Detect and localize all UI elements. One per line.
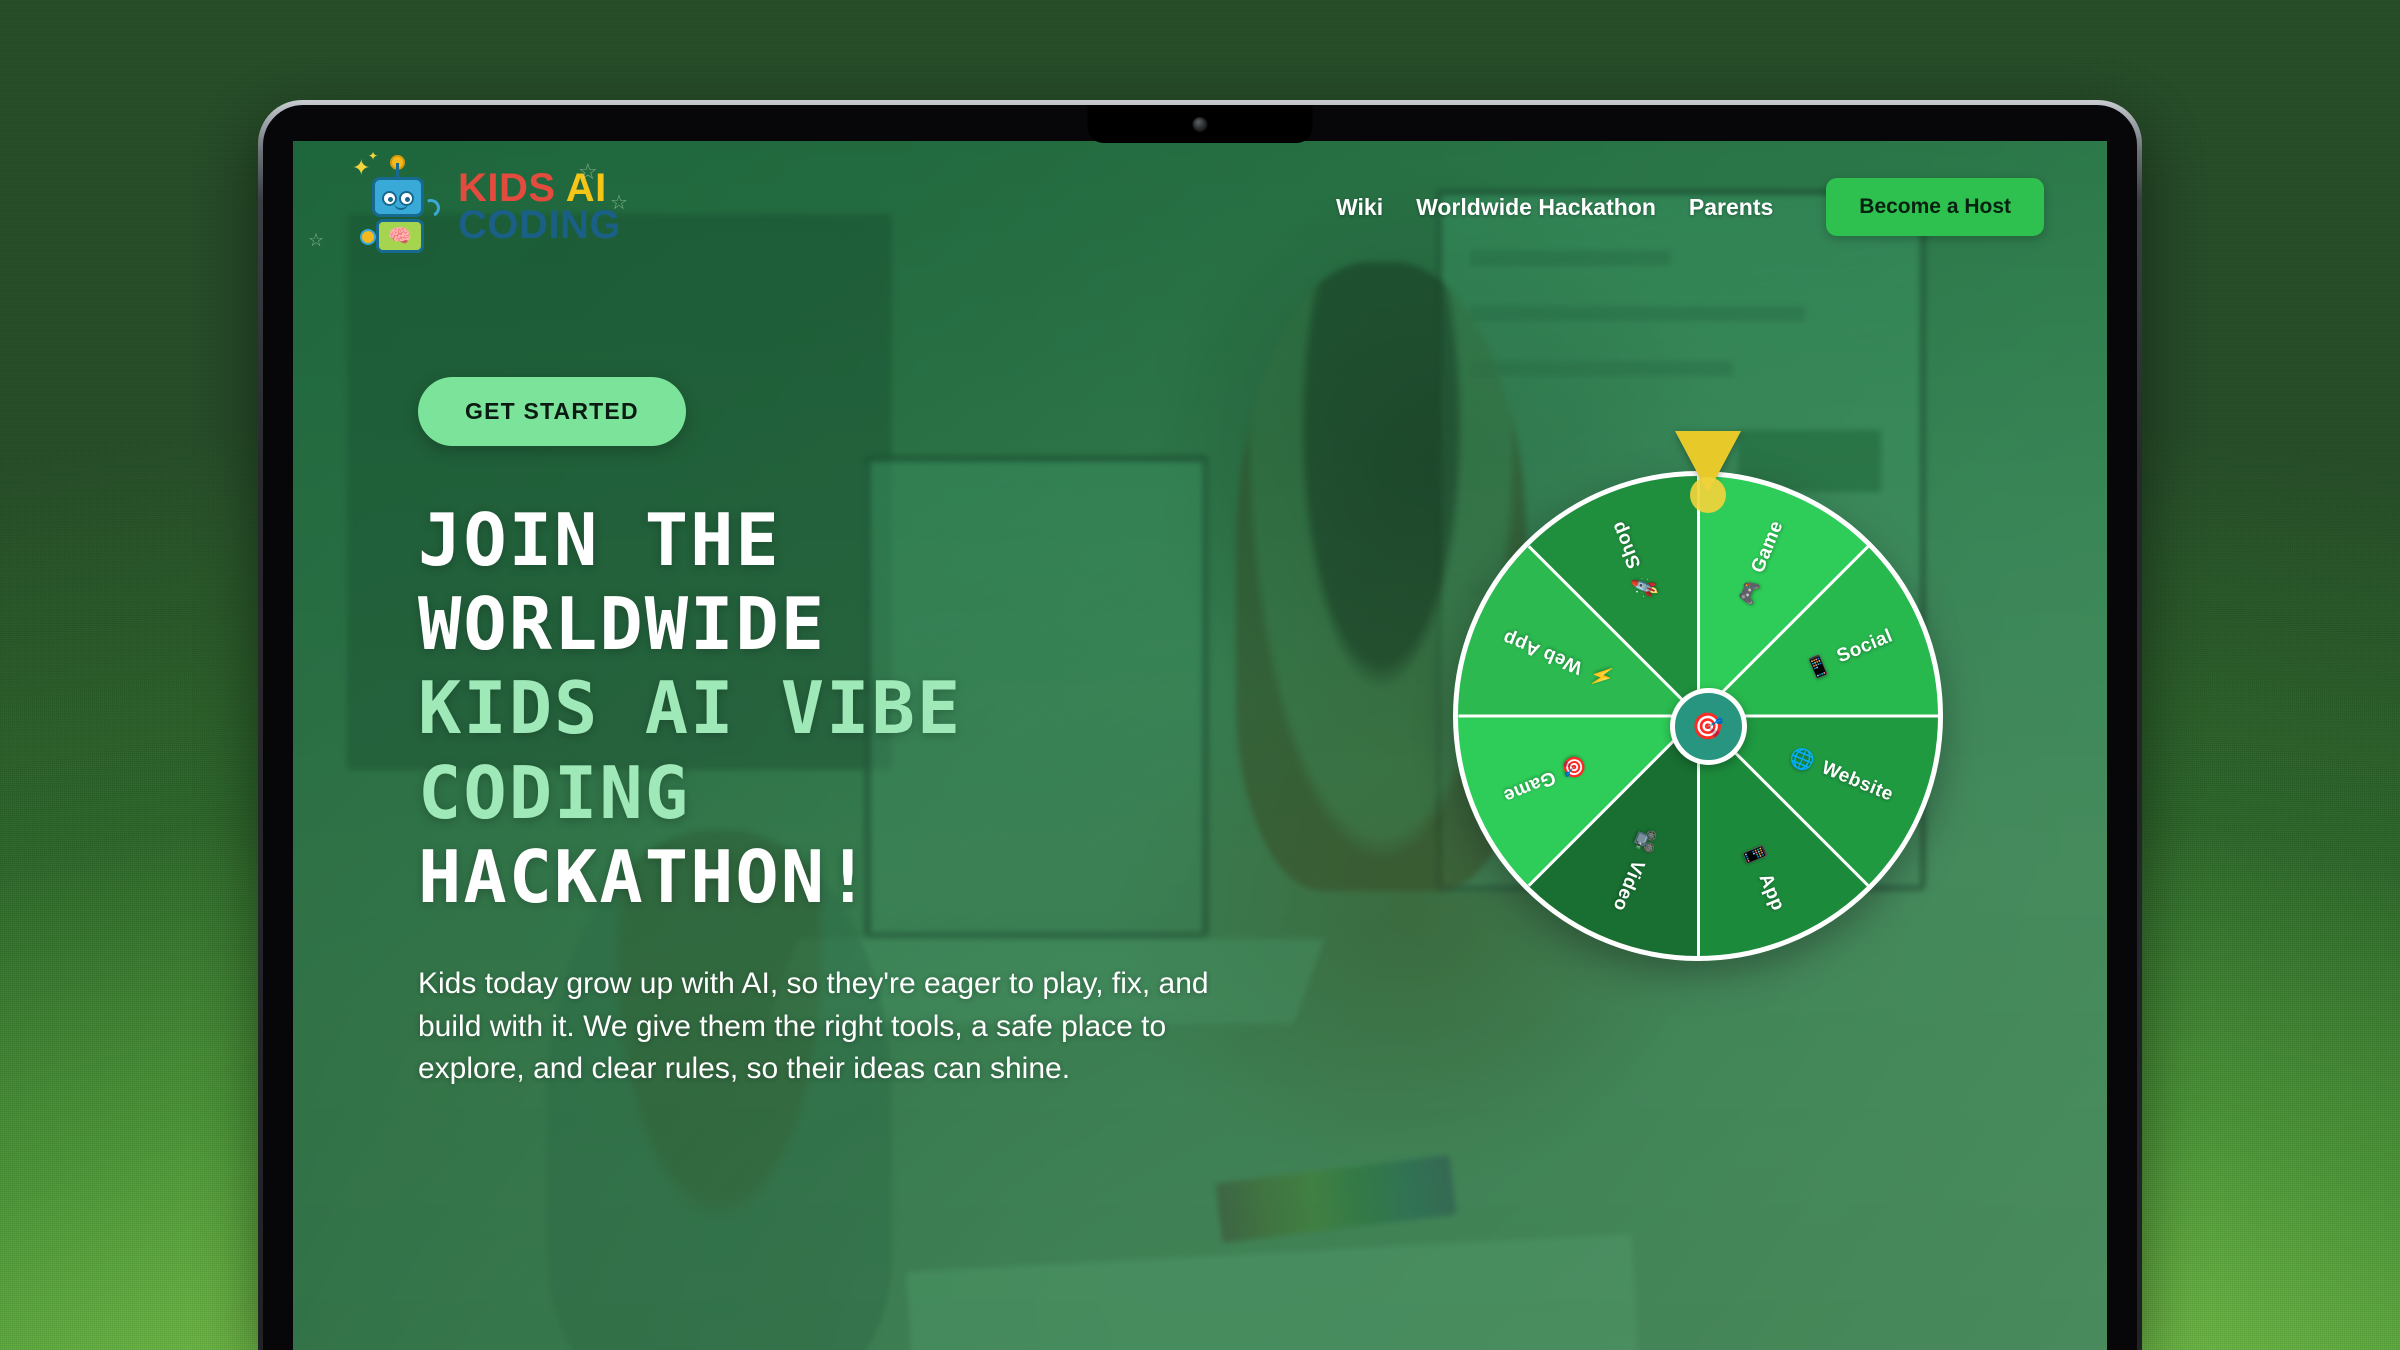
screen-content: ✦ ✦ 🧠 [293,141,2107,1350]
become-a-host-button[interactable]: Become a Host [1826,178,2044,236]
wheel-pointer [1675,431,1741,493]
segment-emoji-icon: 🚀 [1628,571,1661,604]
headline-line-2: WORLDWIDE [418,582,1238,666]
segment-emoji-icon: 🎮 [1733,576,1766,609]
hero-headline: JOIN THE WORLDWIDE KIDS AI VIBE CODING H… [418,498,1238,919]
hero-paragraph: Kids today grow up with AI, so they're e… [418,963,1218,1091]
nav-link-parents[interactable]: Parents [1689,194,1773,221]
star-outline-icon: ☆ [578,162,598,182]
segment-label: Video [1607,856,1648,914]
segment-emoji-icon: 📽️ [1630,824,1663,857]
segment-label: Web App [1500,625,1586,678]
segment-emoji-icon: 🌐 [1786,743,1819,776]
webcam-icon [1193,117,1208,132]
laptop-bezel: ✦ ✦ 🧠 [263,105,2137,1350]
robot-body: 🧠 [376,219,424,253]
segment-label: App [1754,871,1789,915]
nav-links: Wiki Worldwide Hackathon Parents Become … [1336,178,2044,236]
brand-coding-text: CODING [458,203,621,247]
sparkle-small-icon: ✦ [368,149,378,163]
wheel-hub[interactable]: 🎯 [1670,688,1747,765]
laptop-device: ✦ ✦ 🧠 [258,100,2142,1350]
target-icon: 🎯 [1692,711,1724,742]
headline-line-3: KIDS AI VIBE [418,666,1238,750]
spin-wheel-widget[interactable]: 🎮Game📱Social🌐Website📱App📽️Video🎯Game⚡Web… [1453,471,1963,981]
segment-label: Website [1818,757,1896,806]
headline-line-1: JOIN THE [418,498,1238,582]
brain-icon: 🧠 [388,224,412,248]
brand-wordmark: KIDS AI CODING ☆ ☆ ☆ [458,170,621,244]
pointer-dot [1690,477,1726,513]
nav-link-wiki[interactable]: Wiki [1336,194,1383,221]
headline-line-5: HACKATHON! [418,835,1238,919]
site-header: ✦ ✦ 🧠 [293,141,2107,273]
nav-link-worldwide-hackathon[interactable]: Worldwide Hackathon [1416,194,1656,221]
brand-logo[interactable]: ✦ ✦ 🧠 [356,155,621,259]
segment-label: Social [1834,625,1896,668]
segment-emoji-icon: 🎯 [1558,751,1591,784]
segment-label: Game [1500,765,1559,806]
robot-smile [394,203,408,210]
star-outline-icon-3: ☆ [308,232,324,249]
segment-emoji-icon: 📱 [1739,838,1772,871]
segment-label: Shop [1607,518,1646,572]
headline-line-4: CODING [418,751,1238,835]
robot-mascot-icon: ✦ ✦ 🧠 [356,155,442,259]
segment-emoji-icon: ⚡ [1585,660,1618,693]
star-outline-icon-2: ☆ [610,194,628,212]
segment-emoji-icon: 📱 [1802,650,1835,683]
segment-label: Game [1747,518,1788,577]
hero-section: GET STARTED JOIN THE WORLDWIDE KIDS AI V… [418,377,1238,1091]
get-started-button[interactable]: GET STARTED [418,377,686,446]
robot-head [372,177,424,217]
laptop-notch [1088,105,1313,143]
robot-hand-left [360,229,376,245]
